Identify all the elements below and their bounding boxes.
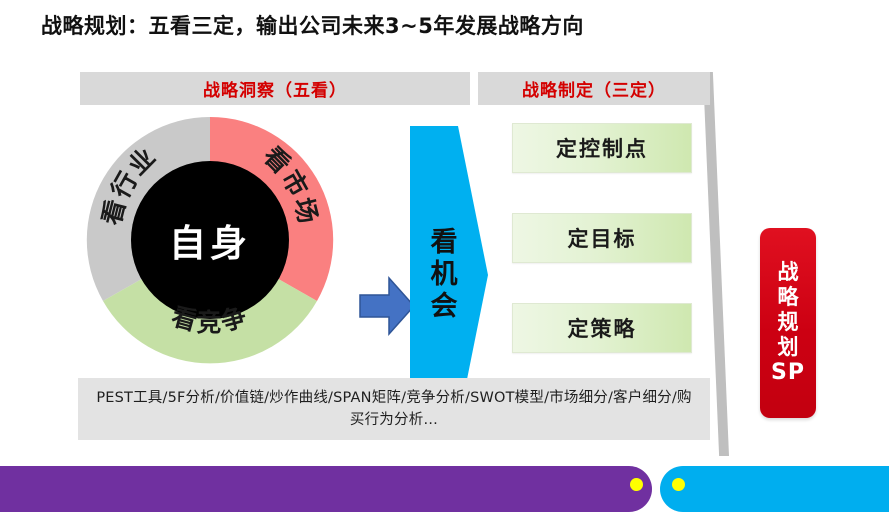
page-title: 战略规划：五看三定，输出公司未来3~5年发展战略方向 <box>41 10 584 40</box>
footer-dot-left <box>630 478 643 491</box>
sp-line-4: 划 <box>778 335 799 360</box>
footer-purple-bar <box>0 466 652 512</box>
donut-core <box>131 161 289 319</box>
donut-svg: 看行业 看市场 看竞争 <box>85 115 335 365</box>
five-looks-donut: 看行业 看市场 看竞争 自身 <box>85 115 335 365</box>
sp-line-1: 战 <box>778 260 799 285</box>
footer-cyan-bar <box>660 466 889 512</box>
header-strategic-formulation: 战略制定（三定） <box>478 72 710 105</box>
decision-box-control-points[interactable]: 定控制点 <box>512 123 692 173</box>
right-arrow-icon <box>358 275 416 337</box>
sp-line-latin: SP <box>771 360 805 386</box>
decision-box-strategy[interactable]: 定策略 <box>512 303 692 353</box>
decision-box-goals[interactable]: 定目标 <box>512 213 692 263</box>
tools-note-line-1: PEST工具/5F分析/价值链/炒作曲线/SPAN矩阵/竞争分析/SWOT模型/… <box>96 390 608 406</box>
tools-note-text: PEST工具/5F分析/价值链/炒作曲线/SPAN矩阵/竞争分析/SWOT模型/… <box>90 387 698 432</box>
sp-line-3: 规 <box>778 310 799 335</box>
strategy-diagram: 战略洞察（五看） 战略制定（三定） 看行业 <box>0 60 889 450</box>
header-strategic-insight: 战略洞察（五看） <box>80 72 470 105</box>
tools-note-box: PEST工具/5F分析/价值链/炒作曲线/SPAN矩阵/竞争分析/SWOT模型/… <box>78 378 710 440</box>
footer-dot-right <box>672 478 685 491</box>
slide-root: 战略规划：五看三定，输出公司未来3~5年发展战略方向 战略洞察（五看） 战略制定… <box>0 0 889 500</box>
sp-line-2: 略 <box>778 285 799 310</box>
output-sp-badge: 战 略 规 划 SP <box>760 228 816 418</box>
arrow-shape <box>360 278 414 334</box>
